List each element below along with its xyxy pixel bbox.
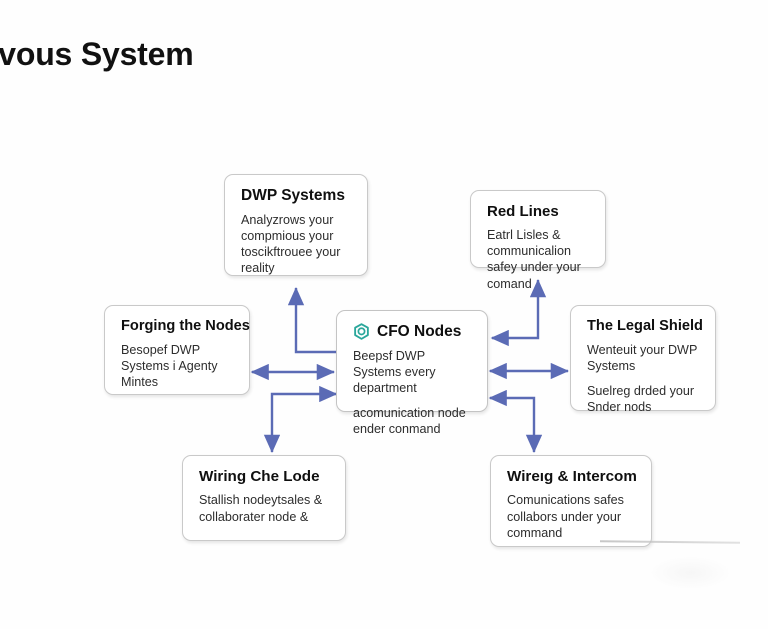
- diagram-canvas: DWP Systems Analyzrows your compmious yo…: [0, 0, 768, 629]
- node-body: Analyzrows your compmious your toscikftr…: [241, 212, 353, 276]
- node-title: Wireıg & Intercom: [507, 468, 637, 485]
- node-body-primary: Beepsf DWP Systems every department: [353, 348, 473, 396]
- node-card-wiring-che-lode[interactable]: Wiring Che Lode Stallish nodeytsales & c…: [182, 455, 346, 541]
- connector-hub-to-dwp-systems: [296, 288, 336, 352]
- node-body: Besopef DWP Systems i Agenty Mintes: [121, 342, 235, 390]
- node-card-dwp-systems[interactable]: DWP Systems Analyzrows your compmious yo…: [224, 174, 368, 276]
- node-title: Wiring Che Lode: [199, 468, 331, 485]
- connector-hub-to-intercom: [490, 398, 534, 452]
- node-title: DWP Systems: [241, 187, 353, 205]
- slide-canvas: rvous System: [0, 0, 768, 629]
- node-body: Comunications safes collabors under your…: [507, 492, 637, 540]
- node-card-cfo-nodes[interactable]: CFO Nodes Beepsf DWP Systems every depar…: [336, 310, 488, 412]
- node-title: Forging the Nodes: [121, 318, 235, 335]
- hub-header: CFO Nodes: [353, 323, 473, 341]
- node-card-red-lines[interactable]: Red Lines Eatrl Lisles & communicalion s…: [470, 190, 606, 268]
- watermark-smudge: [648, 556, 732, 590]
- node-body: Eatrl Lisles & communicalion safey under…: [487, 227, 591, 291]
- node-title: CFO Nodes: [377, 323, 461, 341]
- node-body-secondary: acomunication node ender conmand: [353, 405, 473, 437]
- node-card-wiring-intercom[interactable]: Wireıg & Intercom Comunications safes co…: [490, 455, 652, 547]
- connector-hub-to-wiring-lode: [272, 394, 336, 452]
- node-body-primary: Wenteuit your DWP Systems: [587, 342, 701, 374]
- node-card-forging-the-nodes[interactable]: Forging the Nodes Besopef DWP Systems i …: [104, 305, 250, 395]
- hexagon-badge-icon: [353, 323, 370, 340]
- node-title: The Legal Shield: [587, 318, 701, 335]
- node-body-secondary: Suelreg drded your Snder nods: [587, 383, 701, 415]
- node-title: Red Lines: [487, 203, 591, 220]
- node-body: Stallish nodeytsales & collaborater node…: [199, 492, 331, 524]
- node-card-the-legal-shield[interactable]: The Legal Shield Wenteuit your DWP Syste…: [570, 305, 716, 411]
